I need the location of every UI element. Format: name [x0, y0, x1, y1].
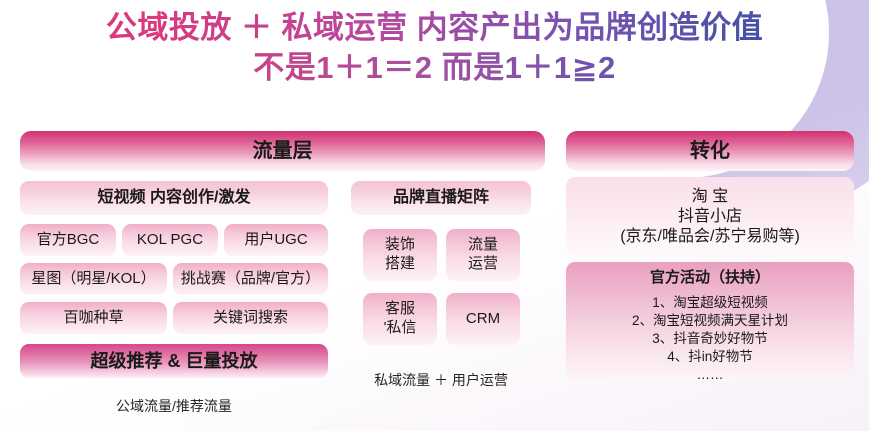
item-baika-zhongcao[interactable]: 百咖种草	[20, 302, 167, 334]
matrix-cell-customer-service[interactable]: 客服 '私信	[363, 293, 437, 345]
item-kol-pgc[interactable]: KOL PGC	[122, 224, 218, 256]
live-matrix-title: 品牌直播矩阵	[351, 181, 531, 215]
title-line-1: 公域投放 ＋ 私域运营 内容产出为品牌创造价值	[0, 8, 869, 48]
item-super-recommend[interactable]: 超级推荐 & 巨量投放	[20, 344, 328, 378]
matrix-cell-crm[interactable]: CRM	[446, 293, 520, 345]
right-panel-header: 转化	[566, 131, 854, 171]
channel-douyin-shop: 抖音小店	[678, 207, 742, 227]
item-challenge[interactable]: 挑战赛（品牌/官方）	[173, 263, 328, 295]
matrix-cell-decoration-line2: 搭建	[385, 255, 415, 274]
activity-item-ellipsis: ……	[697, 366, 724, 384]
short-video-title: 短视频 内容创作/激发	[20, 181, 328, 215]
activity-item-1: 1、淘宝超级短视频	[652, 294, 768, 312]
item-keyword-search[interactable]: 关键词搜索	[173, 302, 328, 334]
private-traffic-footnote: 私域流量 ＋ 用户运营	[351, 370, 531, 390]
matrix-cell-traffic-line1: 流量	[468, 236, 498, 255]
left-panel-header: 流量层	[20, 131, 545, 171]
official-activity-panel: 官方活动（扶持） 1、淘宝超级短视频 2、淘宝短视频满天星计划 3、抖音奇妙好物…	[566, 262, 854, 380]
page-title: 公域投放 ＋ 私域运营 内容产出为品牌创造价值 不是1＋1＝2 而是1＋1≧2	[0, 8, 869, 88]
channel-taobao: 淘 宝	[692, 187, 728, 207]
channel-others: (京东/唯品会/苏宁易购等)	[620, 227, 800, 247]
matrix-cell-decoration[interactable]: 装饰 搭建	[363, 229, 437, 281]
item-user-ugc[interactable]: 用户UGC	[224, 224, 328, 256]
official-activity-title: 官方活动（扶持）	[650, 269, 770, 288]
activity-item-3: 3、抖音奇妙好物节	[652, 330, 768, 348]
matrix-cell-traffic-line2: 运营	[468, 255, 498, 274]
public-traffic-footnote: 公域流量/推荐流量	[20, 396, 328, 416]
item-official-bgc[interactable]: 官方BGC	[20, 224, 116, 256]
activity-item-4: 4、抖in好物节	[667, 348, 753, 366]
title-line-2: 不是1＋1＝2 而是1＋1≧2	[0, 48, 869, 88]
conversion-channels: 淘 宝 抖音小店 (京东/唯品会/苏宁易购等)	[566, 177, 854, 256]
activity-item-2: 2、淘宝短视频满天星计划	[632, 312, 788, 330]
matrix-cell-customer-service-line2: '私信	[384, 319, 417, 338]
item-xingtu[interactable]: 星图（明星/KOL）	[20, 263, 167, 295]
matrix-cell-traffic[interactable]: 流量 运营	[446, 229, 520, 281]
matrix-cell-customer-service-line1: 客服	[385, 300, 415, 319]
matrix-cell-decoration-line1: 装饰	[385, 236, 415, 255]
